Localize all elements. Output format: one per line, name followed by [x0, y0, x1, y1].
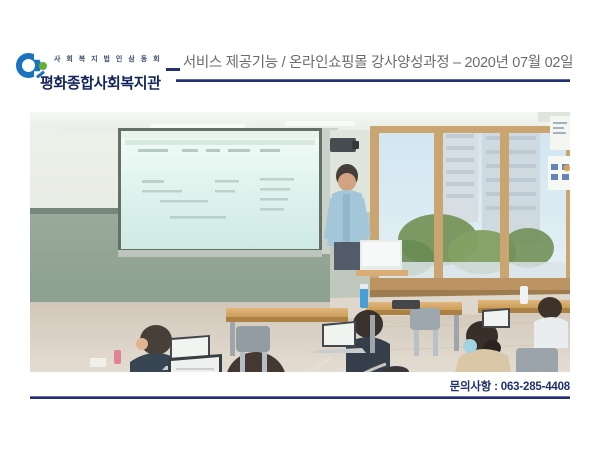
- contact-note: 문의사항 : 063-285-4408: [450, 378, 570, 394]
- slide-header: 사 회 복 지 법 인 삼 동 회 평화종합사회복지관 서비스 제공기능 / 온…: [0, 44, 600, 96]
- logo-main-label: 평화종합사회복지관: [40, 72, 161, 93]
- photo-illustration: [30, 112, 570, 372]
- page-title: 서비스 제공기능 / 온라인쇼핑몰 강사양성과정 – 2020년 07월 02일: [178, 51, 578, 72]
- footer-divider: [30, 396, 570, 399]
- slide-page: 사 회 복 지 법 인 삼 동 회 평화종합사회복지관 서비스 제공기능 / 온…: [0, 0, 600, 462]
- logo-sub-label: 사 회 복 지 법 인 삼 동 회: [54, 54, 162, 64]
- classroom-training-session-photo: [30, 112, 570, 372]
- logo-green-dot-icon: [39, 62, 47, 70]
- header-divider: [176, 79, 570, 82]
- organization-logo[interactable]: 사 회 복 지 법 인 삼 동 회 평화종합사회복지관: [14, 52, 184, 96]
